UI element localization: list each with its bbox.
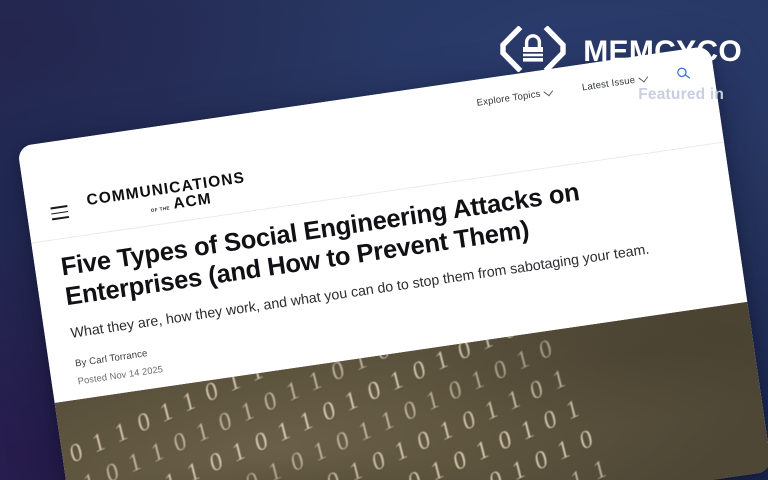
hamburger-bar	[52, 216, 69, 220]
brand-row: MEMCYCO	[499, 26, 742, 77]
acm-logo-of-the: of the	[151, 206, 171, 213]
hamburger-bar	[50, 205, 67, 209]
brand-name: MEMCYCO	[583, 37, 742, 67]
angle-bracket-lock-icon	[499, 26, 567, 77]
featured-in-label: Featured in	[638, 86, 724, 104]
hamburger-bar	[51, 211, 68, 215]
acm-logo-acm: ACM	[172, 191, 212, 212]
hamburger-menu-icon[interactable]	[50, 205, 69, 220]
brand-block: MEMCYCO Featured in	[499, 26, 742, 104]
